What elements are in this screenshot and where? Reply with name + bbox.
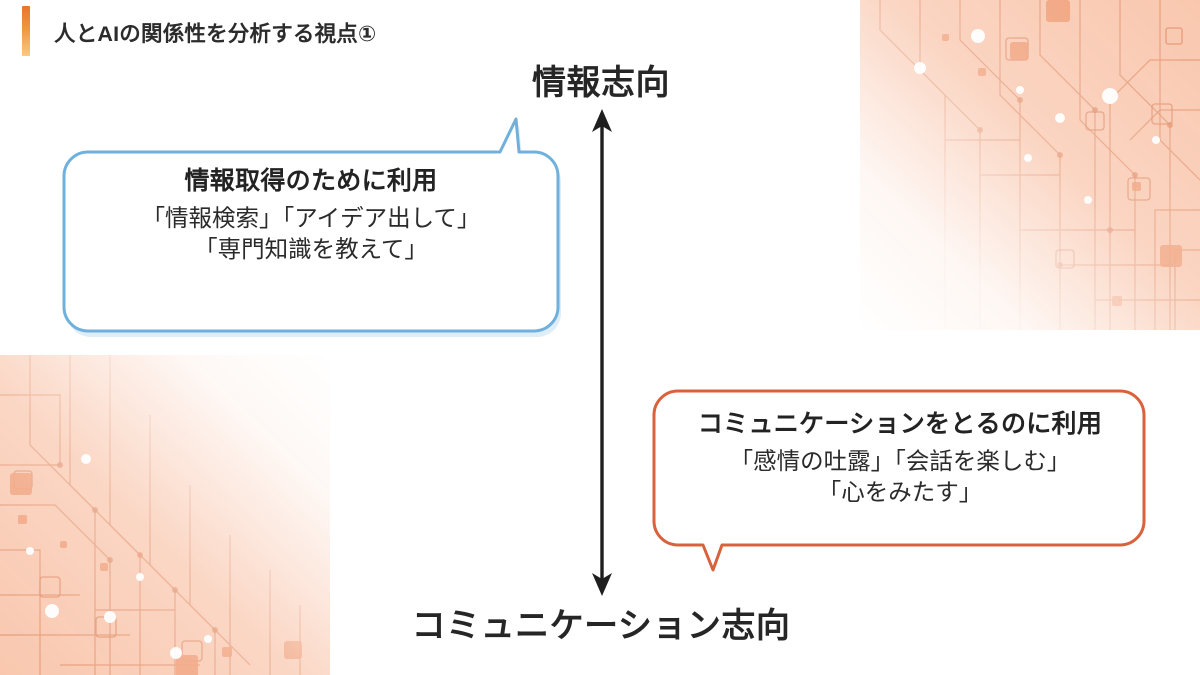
slide-canvas: 人とAIの関係性を分析する視点① 情報志向 コミュニケーション志向 情報取得のた…: [0, 0, 1200, 675]
speech-bubble-communication-text: コミュニケーションをとるのに利用 「感情の吐露」「会話を楽しむ」 「心をみたす」: [652, 409, 1148, 509]
axis-label-top: 情報志向: [0, 55, 1200, 104]
bubble-comm-line-2: 「心をみたす」: [652, 477, 1148, 508]
speech-bubble-information-oriented[interactable]: 情報取得のために利用 「情報検索」「アイデア出して」 「専門知識を教えて」: [60, 112, 562, 317]
bubble-comm-heading: コミュニケーションをとるのに利用: [652, 409, 1148, 439]
speech-bubble-information-text: 情報取得のために利用 「情報検索」「アイデア出して」 「専門知識を教えて」: [60, 166, 562, 266]
axis-label-top-text: 情報志向: [532, 64, 670, 102]
axis-label-bottom-text: コミュニケーション志向: [412, 607, 791, 645]
bubble-comm-line-1: 「感情の吐露」「会話を楽しむ」: [652, 446, 1148, 477]
bubble-info-line-1: 「情報検索」「アイデア出して」: [60, 203, 562, 234]
page-title: 人とAIの関係性を分析する視点①: [54, 17, 376, 48]
bubble-info-heading: 情報取得のために利用: [60, 166, 562, 196]
axis-label-bottom: コミュニケーション志向: [0, 598, 1200, 647]
circuit-decoration-top-right: [860, 0, 1200, 330]
speech-bubble-communication-oriented[interactable]: コミュニケーションをとるのに利用 「感情の吐露」「会話を楽しむ」 「心をみたす」: [652, 388, 1148, 573]
title-accent-bar: [22, 6, 30, 56]
bubble-info-line-2: 「専門知識を教えて」: [60, 234, 562, 265]
vertical-orientation-axis: [572, 105, 632, 600]
